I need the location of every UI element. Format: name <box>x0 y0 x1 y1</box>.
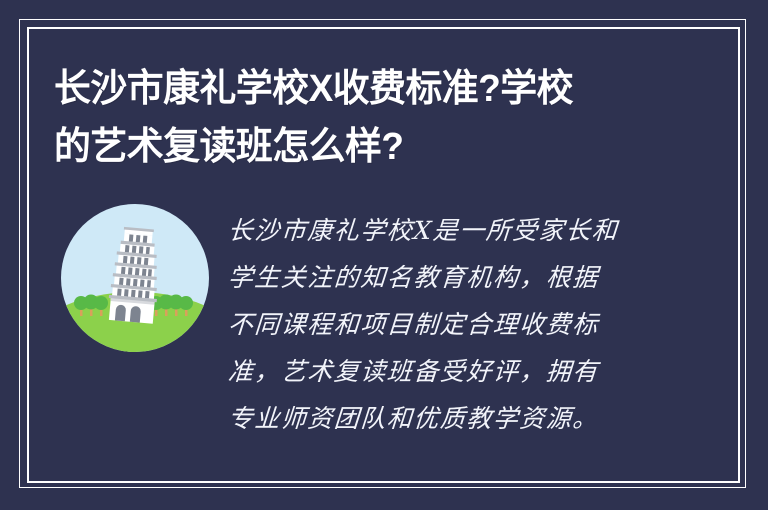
illustration-badge <box>61 204 209 352</box>
body-paragraph: 长沙市康礼学校X是一所受家长和 学生关注的知名教育机构，根据 不同课程和项目制定… <box>228 207 648 442</box>
body-line-1: 长沙市康礼学校X是一所受家长和 <box>226 207 649 254</box>
leaning-tower-icon <box>61 204 209 352</box>
body-line-3: 不同课程和项目制定合理收费标 <box>226 301 649 348</box>
article-card: 长沙市康礼学校X收费标准?学校 的艺术复读班怎么样? <box>0 0 768 510</box>
title-line-1: 长沙市康礼学校X收费标准?学校 <box>54 60 636 118</box>
body-line-4: 准，艺术复读班备受好评，拥有 <box>226 348 649 395</box>
title-line-2: 的艺术复读班怎么样? <box>54 118 636 176</box>
body-line-5: 专业师资团队和优质教学资源。 <box>226 395 649 442</box>
body-line-2: 学生关注的知名教育机构，根据 <box>226 254 649 301</box>
page-title: 长沙市康礼学校X收费标准?学校 的艺术复读班怎么样? <box>54 60 654 176</box>
